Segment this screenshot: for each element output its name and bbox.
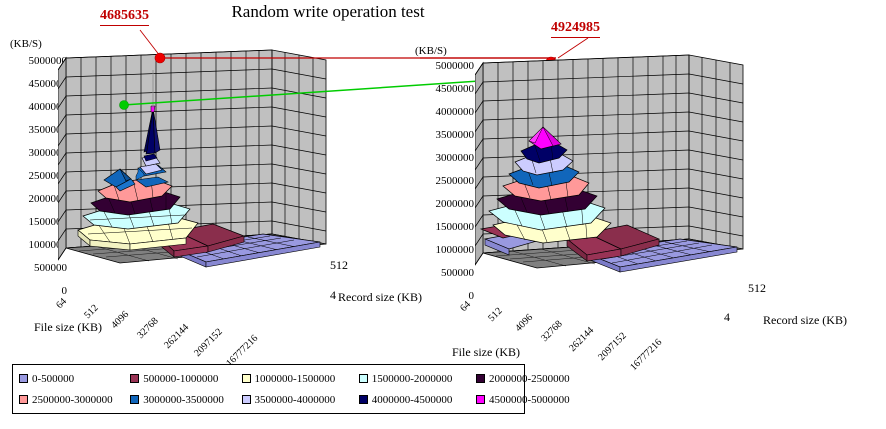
left-ytick-1: 4500000 bbox=[0, 78, 67, 90]
legend-row-2: 2500000-30000003000000-35000003500000-40… bbox=[13, 391, 526, 408]
legend-label: 2500000-3000000 bbox=[32, 394, 113, 406]
right-ztick-4: 4 bbox=[724, 310, 730, 325]
legend-row-1: 0-500000500000-10000001000000-1500000150… bbox=[13, 370, 526, 387]
right-surface-plot bbox=[475, 53, 765, 353]
legend-item-1-4: 2000000-2500000 bbox=[476, 373, 526, 385]
right-ytick-4: 3000000 bbox=[404, 152, 474, 164]
legend-label: 3000000-3500000 bbox=[143, 394, 224, 406]
left-ztick-4: 4 bbox=[330, 288, 336, 303]
left-ytick-2: 4000000 bbox=[0, 101, 67, 113]
legend-swatch-icon bbox=[359, 374, 368, 383]
right-ytick-8: 1000000 bbox=[404, 244, 474, 256]
right-ytick-2: 4000000 bbox=[404, 106, 474, 118]
legend: 0-500000500000-10000001000000-1500000150… bbox=[12, 364, 525, 414]
legend-swatch-icon bbox=[130, 374, 139, 383]
left-ytick-9: 500000 bbox=[0, 262, 67, 274]
legend-item-2-3: 4000000-4500000 bbox=[359, 394, 476, 406]
right-ytick-0: 5000000 bbox=[404, 60, 474, 72]
legend-label: 4000000-4500000 bbox=[372, 394, 453, 406]
legend-swatch-icon bbox=[130, 395, 139, 404]
legend-label: 1500000-2000000 bbox=[372, 373, 453, 385]
legend-item-1-0: 0-500000 bbox=[13, 373, 130, 385]
left-ytick-6: 2000000 bbox=[0, 193, 67, 205]
right-ytick-1: 4500000 bbox=[404, 83, 474, 95]
right-zaxis-label: Record size (KB) bbox=[763, 313, 847, 328]
right-xaxis-label: File size (KB) bbox=[452, 345, 520, 360]
left-peak-callout: 4685635 bbox=[100, 8, 149, 26]
legend-swatch-icon bbox=[476, 395, 485, 404]
legend-item-1-2: 1000000-1500000 bbox=[242, 373, 359, 385]
legend-item-2-4: 4500000-5000000 bbox=[476, 394, 526, 406]
legend-label: 4500000-5000000 bbox=[489, 394, 570, 406]
chart-page: Random write operation test (KB/S) 50000… bbox=[0, 0, 886, 429]
right-ytick-9: 500000 bbox=[404, 267, 474, 279]
left-ztick-512: 512 bbox=[330, 258, 348, 273]
left-ytick-0: 5000000 bbox=[0, 55, 67, 67]
left-yaxis-unit: (KB/S) bbox=[10, 38, 42, 50]
legend-swatch-icon bbox=[19, 374, 28, 383]
legend-label: 3500000-4000000 bbox=[255, 394, 336, 406]
left-ytick-10: 0 bbox=[0, 285, 67, 297]
legend-item-2-0: 2500000-3000000 bbox=[13, 394, 130, 406]
legend-label: 0-500000 bbox=[32, 373, 74, 385]
legend-item-1-3: 1500000-2000000 bbox=[359, 373, 476, 385]
legend-label: 1000000-1500000 bbox=[255, 373, 336, 385]
left-ytick-3: 3500000 bbox=[0, 124, 67, 136]
legend-swatch-icon bbox=[242, 374, 251, 383]
left-ytick-5: 2500000 bbox=[0, 170, 67, 182]
right-yaxis-unit: (KB/S) bbox=[415, 45, 447, 57]
right-ztick-512: 512 bbox=[748, 281, 766, 296]
right-peak-callout: 4924985 bbox=[551, 20, 600, 38]
legend-label: 2000000-2500000 bbox=[489, 373, 570, 385]
left-ytick-7: 1500000 bbox=[0, 216, 67, 228]
left-surface-plot bbox=[58, 48, 338, 348]
left-xaxis-label: File size (KB) bbox=[34, 320, 102, 335]
legend-item-2-2: 3500000-4000000 bbox=[242, 394, 359, 406]
left-ytick-4: 3000000 bbox=[0, 147, 67, 159]
right-ytick-5: 2500000 bbox=[404, 175, 474, 187]
legend-swatch-icon bbox=[359, 395, 368, 404]
legend-swatch-icon bbox=[19, 395, 28, 404]
legend-label: 500000-1000000 bbox=[143, 373, 218, 385]
right-ytick-6: 2000000 bbox=[404, 198, 474, 210]
legend-swatch-icon bbox=[476, 374, 485, 383]
legend-swatch-icon bbox=[242, 395, 251, 404]
right-ytick-3: 3500000 bbox=[404, 129, 474, 141]
left-ytick-8: 1000000 bbox=[0, 239, 67, 251]
right-ytick-7: 1500000 bbox=[404, 221, 474, 233]
page-title: Random write operation test bbox=[213, 2, 443, 22]
legend-item-2-1: 3000000-3500000 bbox=[130, 394, 241, 406]
legend-item-1-1: 500000-1000000 bbox=[130, 373, 241, 385]
